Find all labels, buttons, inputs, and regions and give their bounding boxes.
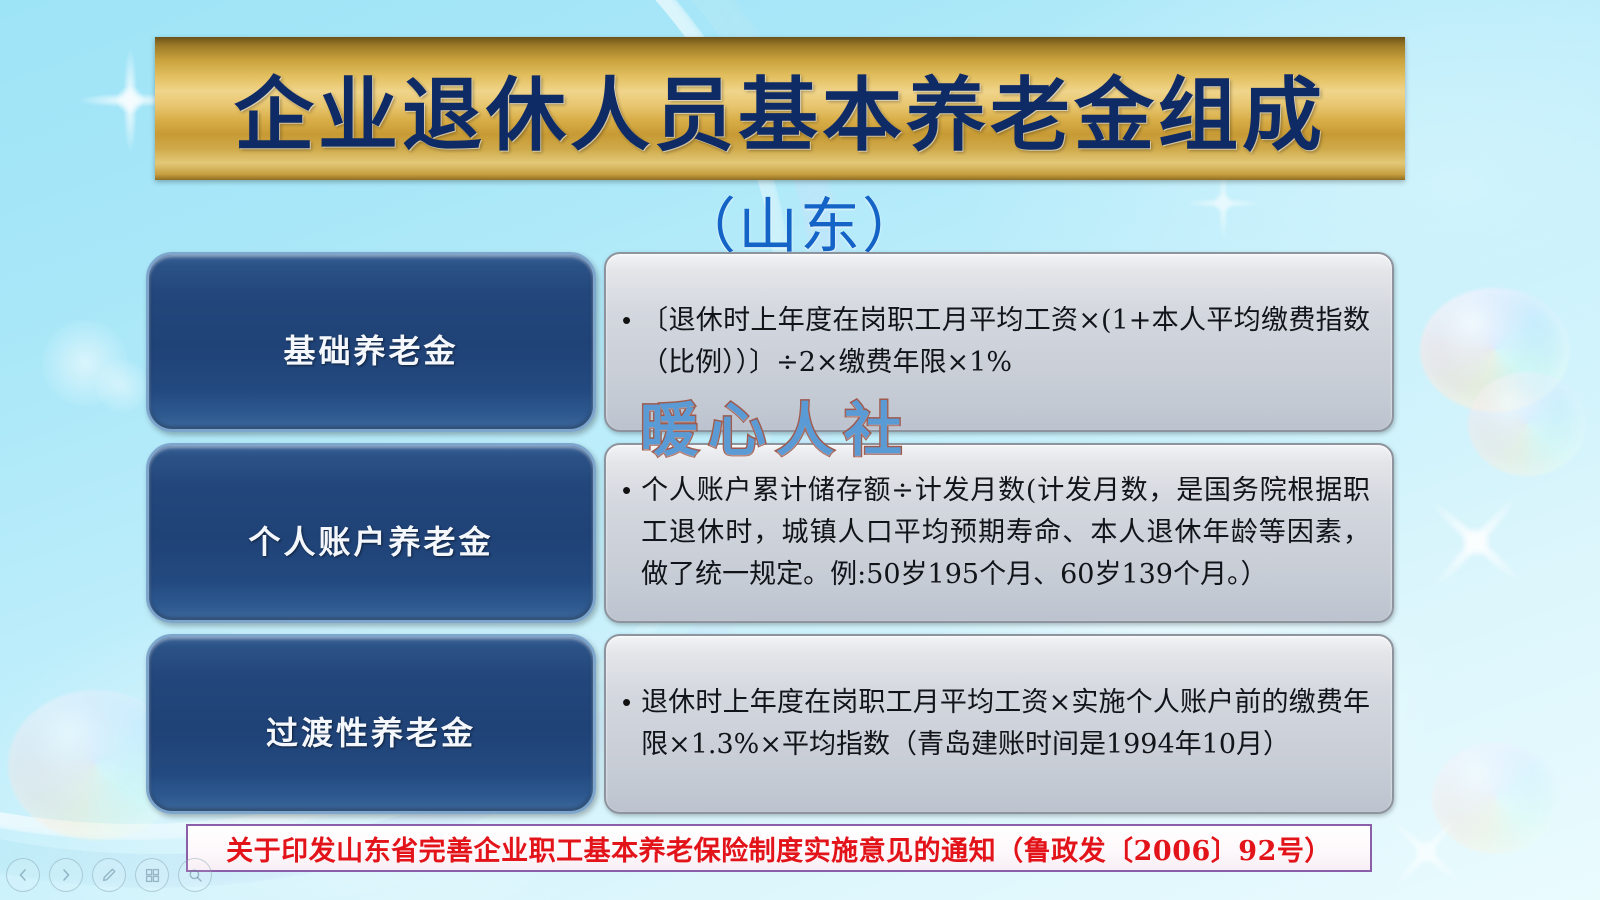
bullet-point-icon: • [622, 470, 631, 510]
footer-note-text: 关于印发山东省完善企业职工基本养老保险制度实施意见的通知（鲁政发〔2006〕92… [226, 829, 1332, 868]
category-label-text: 个人账户养老金 [248, 517, 493, 563]
category-label-text: 基础养老金 [283, 326, 458, 372]
chevron-right-icon [59, 868, 73, 882]
previous-slide-button[interactable] [6, 858, 40, 892]
formula-box-personal-account-pension: • 个人账户累计储存额÷计发月数(计发月数，是国务院根据职工退休时，城镇人口平均… [604, 443, 1394, 623]
category-label-box-transitional-pension[interactable]: 过渡性养老金 [146, 634, 596, 814]
zoom-tool-button[interactable] [178, 858, 212, 892]
formula-box-basic-pension: • 〔退休时上年度在岗职工月平均工资×(1+本人平均缴费指数（比例））〕÷2×缴… [604, 252, 1394, 432]
title-banner: 企业退休人员基本养老金组成 [155, 37, 1405, 180]
formula-box-transitional-pension: • 退休时上年度在岗职工月平均工资×实施个人账户前的缴费年限×1.3%×平均指数… [604, 634, 1394, 814]
formula-text: 个人账户累计储存额÷计发月数(计发月数，是国务院根据职工退休时，城镇人口平均预期… [641, 470, 1370, 596]
content-row: 基础养老金 • 〔退休时上年度在岗职工月平均工资×(1+本人平均缴费指数（比例）… [0, 252, 1600, 432]
pen-icon [101, 867, 117, 883]
formula-text: 退休时上年度在岗职工月平均工资×实施个人账户前的缴费年限×1.3%×平均指数（青… [641, 682, 1370, 766]
next-slide-button[interactable] [49, 858, 83, 892]
formula-text: 〔退休时上年度在岗职工月平均工资×(1+本人平均缴费指数（比例））〕÷2×缴费年… [641, 300, 1370, 384]
category-label-text: 过渡性养老金 [266, 708, 476, 754]
category-label-box-personal-account-pension[interactable]: 个人账户养老金 [146, 443, 596, 623]
chevron-left-icon [16, 868, 30, 882]
slideshow-toolbar [6, 858, 212, 892]
category-label-box-basic-pension[interactable]: 基础养老金 [146, 252, 596, 432]
bullet-point-icon: • [622, 300, 631, 340]
presentation-slide: 企业退休人员基本养老金组成 （山东） 基础养老金 • 〔退休时上年度在岗职工月平… [0, 0, 1600, 900]
grid-icon [145, 868, 160, 883]
content-row: 个人账户养老金 • 个人账户累计储存额÷计发月数(计发月数，是国务院根据职工退休… [0, 443, 1600, 623]
page-title: 企业退休人员基本养老金组成 [234, 51, 1326, 167]
magnifier-icon [188, 868, 203, 883]
slide-menu-button[interactable] [135, 858, 169, 892]
content-row: 过渡性养老金 • 退休时上年度在岗职工月平均工资×实施个人账户前的缴费年限×1.… [0, 634, 1600, 814]
bullet-point-icon: • [622, 682, 631, 722]
footer-note-box: 关于印发山东省完善企业职工基本养老保险制度实施意见的通知（鲁政发〔2006〕92… [186, 824, 1372, 872]
pen-tool-button[interactable] [92, 858, 126, 892]
